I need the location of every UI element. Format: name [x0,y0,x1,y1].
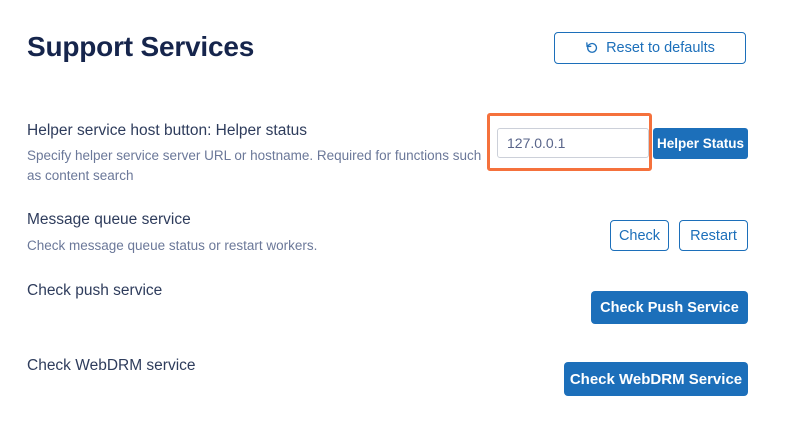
reset-to-defaults-label: Reset to defaults [606,41,715,56]
helper-host-input[interactable] [497,128,649,158]
page-header: Support Services Reset to defaults [0,0,797,100]
push-service-label: Check push service [27,281,162,301]
reset-to-defaults-button[interactable]: Reset to defaults [554,32,746,64]
check-queue-button[interactable]: Check [610,220,669,251]
restart-queue-button[interactable]: Restart [679,220,748,251]
row-helper-service: Helper service host button: Helper statu… [0,113,797,188]
message-queue-description: Check message queue status or restart wo… [27,236,482,256]
helper-service-description: Specify helper service server URL or hos… [27,146,482,186]
page-title: Support Services [27,28,254,66]
check-webdrm-service-button[interactable]: Check WebDRM Service [564,362,748,396]
webdrm-service-label: Check WebDRM service [27,356,196,376]
row-webdrm-service: Check WebDRM service Check WebDRM Servic… [0,350,797,396]
reset-counterclockwise-icon [585,41,599,55]
helper-status-button[interactable]: Helper Status [653,128,748,159]
check-push-service-button[interactable]: Check Push Service [591,291,748,324]
row-message-queue-service: Message queue service Check message queu… [0,208,797,260]
message-queue-label: Message queue service [27,210,191,230]
helper-service-label: Helper service host button: Helper statu… [27,121,307,141]
support-services-page: Support Services Reset to defaults Helpe… [0,0,797,435]
row-push-service: Check push service Check Push Service [0,277,797,323]
